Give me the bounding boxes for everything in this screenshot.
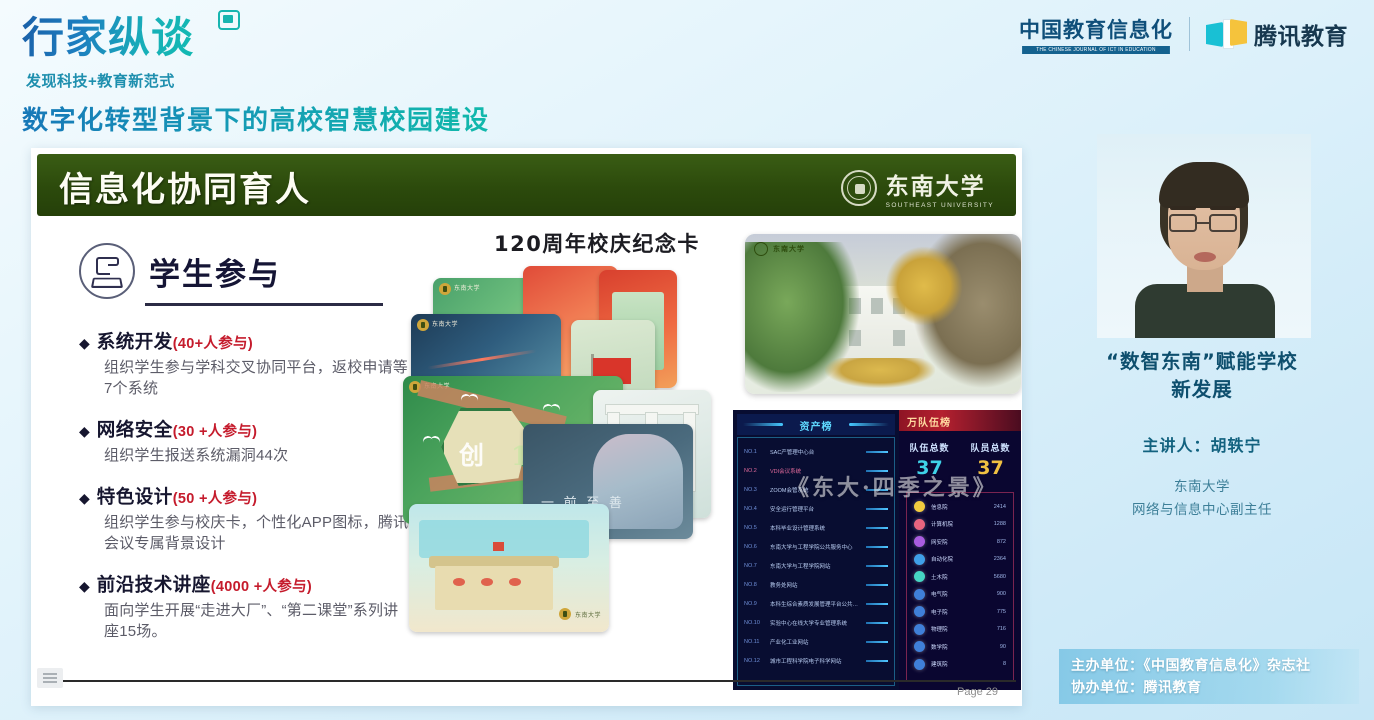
- talk-title-line1: “数智东南”赋能学校: [1040, 348, 1364, 376]
- team-row: 电子院775: [914, 603, 1006, 621]
- section-underline: [145, 303, 383, 306]
- team-name: 电气院: [931, 590, 991, 598]
- team-score: 716: [997, 626, 1006, 632]
- asset-dashboard[interactable]: 资产榜 NO.1SAC产管理中心台NO.2VDI会议系统NO.3ZOOM会管系统…: [733, 410, 1021, 690]
- asset-name: VDI会议系统: [770, 467, 860, 475]
- asset-rank: NO.9: [744, 601, 764, 607]
- stat-team-count: 队伍总数 37: [899, 441, 960, 479]
- asset-name: 本科毕业设计管理系统: [770, 524, 860, 532]
- asset-name: 实验中心在线大学专业管理系统: [770, 619, 860, 627]
- bullet-item: ◆ 网络安全 (30 +人参与) 组织学生报送系统漏洞44次: [79, 416, 409, 466]
- talk-title: “数智东南”赋能学校 新发展: [1040, 348, 1364, 404]
- podium-icon: [79, 243, 135, 299]
- asset-rank: NO.1: [744, 449, 764, 455]
- asset-value-bar: [866, 641, 888, 643]
- asset-row: NO.9本科生综合素质发展管理平台公共服务中心: [744, 594, 888, 613]
- medal-icon: [914, 641, 925, 652]
- stat-value: 37: [960, 457, 1021, 479]
- stat-label: 队员总数: [960, 441, 1021, 454]
- bullet-count: (40+人参与): [173, 332, 253, 353]
- medal-icon: [914, 589, 925, 600]
- team-row: 计算机院1288: [914, 516, 1006, 534]
- stat-member-count: 队员总数 37: [960, 441, 1021, 479]
- university-seal-icon: [841, 170, 877, 206]
- section-heading: 学生参与: [149, 249, 281, 294]
- bullet-desc: 组织学生参与校庆卡，个性化APP图标，腾讯会议专属背景设计: [104, 512, 409, 554]
- cards-title: 120周年校庆纪念卡: [494, 228, 700, 258]
- asset-value-bar: [866, 565, 888, 567]
- team-score: 1288: [994, 521, 1006, 527]
- asset-value-bar: [866, 603, 888, 605]
- asset-value-bar: [866, 470, 888, 472]
- asset-rank: NO.6: [744, 544, 764, 550]
- stat-label: 队伍总数: [899, 441, 960, 454]
- team-ranking-header: 万队伍榜: [899, 410, 1021, 431]
- speaker-hair: [1159, 162, 1249, 208]
- medal-icon: [914, 624, 925, 635]
- asset-value-bar: [866, 622, 888, 624]
- asset-ranking-title: 资产榜: [737, 418, 895, 433]
- speaker-brow-left: [1170, 206, 1196, 210]
- team-row: 建筑院8: [914, 656, 1006, 674]
- team-score: 8: [1003, 661, 1006, 667]
- asset-rank: NO.5: [744, 525, 764, 531]
- speaker-panel: “数智东南”赋能学校 新发展 主讲人：胡轶宁 东南大学 网络与信息中心副主任 主…: [1030, 0, 1374, 720]
- asset-value-bar: [866, 451, 888, 453]
- team-name: 建筑院: [931, 660, 997, 668]
- team-score: 900: [997, 591, 1006, 597]
- presentation-slide[interactable]: 信息化协同育人 东南大学 SOUTHEAST UNIVERSITY 学生参与 ◆…: [31, 148, 1022, 706]
- diamond-bullet-icon: ◆: [79, 490, 90, 507]
- asset-ranking-header: 资产榜: [737, 414, 895, 435]
- glasses-right-lens-icon: [1209, 214, 1237, 232]
- card-temple: 东南大学: [409, 504, 609, 632]
- team-score: 5680: [994, 574, 1006, 580]
- bullet-title: 前沿技术讲座: [97, 571, 211, 597]
- university-logo: 东南大学 SOUTHEAST UNIVERSITY: [841, 167, 994, 209]
- page-number: Page 29: [957, 686, 998, 698]
- asset-name: 东南大学与工程学院公共服务中心: [770, 543, 860, 551]
- commemorative-cards-collage: 东南大学 东南大学 东南大学 创 1850 一 前 至 善: [403, 258, 727, 698]
- team-row: 自动化院2364: [914, 551, 1006, 569]
- team-row: 信息院2414: [914, 498, 1006, 516]
- speaker-brow-right: [1210, 206, 1236, 210]
- asset-row: NO.7东南大学与工程学院网站: [744, 556, 888, 575]
- asset-name: 本科生综合素质发展管理平台公共服务中心: [770, 600, 860, 608]
- slide-menu-icon[interactable]: [37, 668, 63, 688]
- student-participation-section: 学生参与 ◆ 系统开发 (40+人参与) 组织学生参与学科交叉协同平台，返校申请…: [79, 243, 409, 659]
- program-subtitle: 发现科技+教育新范式: [26, 70, 175, 91]
- bullet-title: 特色设计: [97, 483, 173, 509]
- medal-icon: [914, 536, 925, 547]
- asset-value-bar: [866, 546, 888, 548]
- asset-rank: NO.3: [744, 487, 764, 493]
- bullet-title: 系统开发: [97, 328, 173, 354]
- team-name: 计算机院: [931, 520, 988, 528]
- team-ranking-list: 信息院2414计算机院1288网安院872自动化院2364土木院5680电气院9…: [906, 492, 1014, 682]
- team-name: 信息院: [931, 503, 988, 511]
- diamond-bullet-icon: ◆: [79, 578, 90, 595]
- bullet-title: 网络安全: [97, 416, 173, 442]
- bullet-item: ◆ 系统开发 (40+人参与) 组织学生参与学科交叉协同平台，返校申请等7个系统: [79, 328, 409, 399]
- asset-name: 教务处网站: [770, 581, 860, 589]
- bullet-item: ◆ 特色设计 (50 +人参与) 组织学生参与校庆卡，个性化APP图标，腾讯会议…: [79, 483, 409, 554]
- card-seal-icon: [754, 242, 768, 256]
- section-header: 学生参与: [79, 243, 409, 299]
- team-ranking-panel: 万队伍榜 队伍总数 37 队员总数 37 信息院2414计算机院1288网安院8…: [899, 410, 1021, 690]
- speaker-mouth: [1194, 252, 1216, 262]
- card-seal-label: 东南大学: [773, 244, 805, 254]
- asset-row: NO.6东南大学与工程学院公共服务中心: [744, 537, 888, 556]
- team-row: 电气院900: [914, 586, 1006, 604]
- asset-rank: NO.11: [744, 639, 764, 645]
- speaker-video[interactable]: [1097, 134, 1311, 338]
- bullet-count: (50 +人参与): [173, 487, 257, 508]
- asset-rank: NO.12: [744, 658, 764, 664]
- medal-icon: [914, 519, 925, 530]
- asset-name: 东南大学与工程学院网站: [770, 562, 860, 570]
- team-ranking-title: 万队伍榜: [907, 414, 951, 429]
- team-name: 网安院: [931, 538, 991, 546]
- asset-ranking-list: NO.1SAC产管理中心台NO.2VDI会议系统NO.3ZOOM会管系统NO.4…: [737, 437, 895, 686]
- medal-icon: [914, 554, 925, 565]
- program-logo: 行家纵谈: [22, 8, 222, 70]
- glasses-bridge-icon: [1197, 222, 1209, 224]
- asset-row: NO.5本科毕业设计管理系统: [744, 518, 888, 537]
- affiliation-line2: 网络与信息中心副主任: [1040, 498, 1364, 521]
- bullet-desc: 组织学生报送系统漏洞44次: [104, 445, 409, 466]
- bullet-count: (4000 +人参与): [211, 575, 312, 596]
- asset-name: 安全运行管理平台: [770, 505, 860, 513]
- asset-name: ZOOM会管系统: [770, 486, 860, 494]
- asset-row: NO.2VDI会议系统: [744, 461, 888, 480]
- asset-rank: NO.8: [744, 582, 764, 588]
- bullet-desc: 组织学生参与学科交叉协同平台，返校申请等7个系统: [104, 357, 409, 399]
- team-name: 土木院: [931, 573, 988, 581]
- university-name-en: SOUTHEAST UNIVERSITY: [886, 202, 994, 209]
- asset-name: 产业化工业网站: [770, 638, 860, 646]
- speaker-torso: [1135, 284, 1275, 338]
- asset-row: NO.10实验中心在线大学专业管理系统: [744, 613, 888, 632]
- logo-badge-icon: [218, 10, 240, 30]
- asset-row: NO.1SAC产管理中心台: [744, 442, 888, 461]
- team-name: 数学院: [931, 643, 994, 651]
- campus-illustration-card: 东南大学: [745, 234, 1021, 394]
- asset-rank: NO.4: [744, 506, 764, 512]
- team-name: 电子院: [931, 608, 991, 616]
- card-mark-label: 东南大学: [454, 283, 480, 292]
- medal-icon: [914, 659, 925, 670]
- asset-row: NO.12城市工程科学院电子科学网站: [744, 651, 888, 670]
- asset-value-bar: [866, 660, 888, 662]
- asset-name: 城市工程科学院电子科学网站: [770, 657, 860, 665]
- card-map-seal: 创: [459, 436, 484, 472]
- organizer-line1: 主办单位：《中国教育信息化》杂志社: [1071, 654, 1347, 676]
- asset-name: SAC产管理中心台: [770, 448, 860, 456]
- asset-row: NO.8教务处网站: [744, 575, 888, 594]
- team-score: 90: [1000, 644, 1006, 650]
- team-score: 2364: [994, 556, 1006, 562]
- university-name-cn: 东南大学: [886, 167, 994, 201]
- slide-header-bar: 信息化协同育人 东南大学 SOUTHEAST UNIVERSITY: [37, 154, 1016, 216]
- team-row: 物理院716: [914, 621, 1006, 639]
- bullet-item: ◆ 前沿技术讲座 (4000 +人参与) 面向学生开展“走进大厂”、“第二课堂”…: [79, 571, 409, 642]
- team-score: 2414: [994, 504, 1006, 510]
- speaker-affiliation: 东南大学 网络与信息中心副主任: [1040, 475, 1364, 521]
- bullet-list: ◆ 系统开发 (40+人参与) 组织学生参与学科交叉协同平台，返校申请等7个系统…: [79, 328, 409, 642]
- asset-value-bar: [866, 584, 888, 586]
- asset-rank: NO.2: [744, 468, 764, 474]
- slide-footer-rule: [37, 680, 1016, 682]
- medal-icon: [914, 571, 925, 582]
- organizer-line2: 协办单位：腾讯教育: [1071, 676, 1347, 698]
- asset-row: NO.3ZOOM会管系统: [744, 480, 888, 499]
- asset-rank: NO.7: [744, 563, 764, 569]
- asset-row: NO.4安全运行管理平台: [744, 499, 888, 518]
- asset-value-bar: [866, 527, 888, 529]
- diamond-bullet-icon: ◆: [79, 423, 90, 440]
- team-row: 数学院90: [914, 638, 1006, 656]
- diamond-bullet-icon: ◆: [79, 335, 90, 352]
- stat-value: 37: [899, 457, 960, 479]
- asset-value-bar: [866, 489, 888, 491]
- affiliation-line1: 东南大学: [1040, 475, 1364, 498]
- bullet-count: (30 +人参与): [173, 420, 257, 441]
- team-row: 网安院872: [914, 533, 1006, 551]
- bullet-desc: 面向学生开展“走进大厂”、“第二课堂”系列讲座15场。: [104, 600, 409, 642]
- asset-value-bar: [866, 508, 888, 510]
- speaker-name: 主讲人：胡轶宁: [1040, 432, 1364, 456]
- glasses-left-lens-icon: [1169, 214, 1197, 232]
- asset-row: NO.11产业化工业网站: [744, 632, 888, 651]
- program-headline: 数字化转型背景下的高校智慧校园建设: [22, 100, 490, 137]
- asset-rank: NO.10: [744, 620, 764, 626]
- talk-title-line2: 新发展: [1040, 376, 1364, 404]
- team-name: 物理院: [931, 625, 991, 633]
- organizer-banner: 主办单位：《中国教育信息化》杂志社 协办单位：腾讯教育: [1059, 649, 1359, 704]
- asset-ranking-panel: 资产榜 NO.1SAC产管理中心台NO.2VDI会议系统NO.3ZOOM会管系统…: [733, 410, 899, 690]
- team-stats: 队伍总数 37 队员总数 37: [899, 441, 1021, 479]
- team-row: 土木院5680: [914, 568, 1006, 586]
- medal-icon: [914, 606, 925, 617]
- slide-title: 信息化协同育人: [59, 162, 311, 211]
- team-score: 775: [997, 609, 1006, 615]
- team-name: 自动化院: [931, 555, 988, 563]
- program-logo-text: 行家纵谈: [22, 8, 222, 68]
- medal-icon: [914, 501, 925, 512]
- team-score: 872: [997, 539, 1006, 545]
